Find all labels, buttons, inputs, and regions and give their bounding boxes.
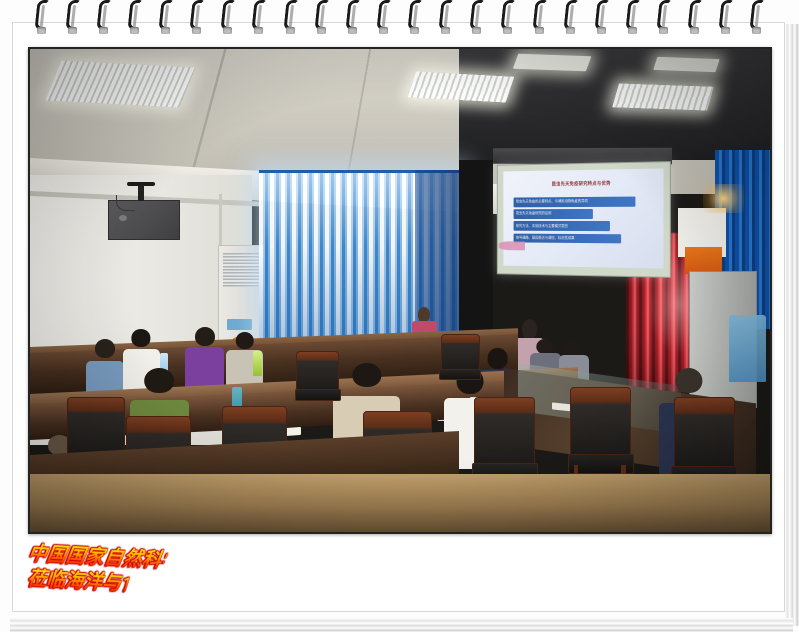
spiral-ring-icon <box>35 0 49 34</box>
spiral-ring-icon <box>252 0 266 34</box>
projection-screen: 昆虫先天免疫研究特点与优势 昆虫先天免疫的主要特点、与哺乳动物免疫的异同 昆虫先… <box>496 161 670 278</box>
ceiling-light-3 <box>612 83 714 110</box>
spiral-ring-icon <box>315 0 329 34</box>
ceiling-light-1 <box>46 61 196 108</box>
spiral-ring-icon <box>346 0 360 34</box>
slide-title: 昆虫先天免疫研究特点与优势 <box>518 175 646 191</box>
slide-bullet: 昆虫先天免疫的主要特点、与哺乳动物免疫的异同 <box>513 196 634 206</box>
spiral-ring-icon <box>626 0 640 34</box>
slide-content: 昆虫先天免疫研究特点与优势 昆虫先天免疫的主要特点、与哺乳动物免疫的异同 昆虫先… <box>503 167 663 268</box>
chair <box>296 351 337 414</box>
spiral-ring-icon <box>221 0 235 34</box>
slide-bullet-list: 昆虫先天免疫的主要特点、与哺乳动物免疫的异同 昆虫先天免疫研究的应用 研究方法、… <box>513 196 650 262</box>
spiral-ring-icon <box>128 0 142 34</box>
slide-bullet: 信号通路、基因表达与调控、标志性成果 <box>513 233 620 243</box>
spiral-ring-icon <box>595 0 609 34</box>
ceiling-light-4 <box>512 53 591 71</box>
scrapbook-page: 昆虫先天免疫研究特点与优势 昆虫先天免疫的主要特点、与哺乳动物免疫的异同 昆虫先… <box>0 0 799 632</box>
spiral-ring-icon <box>97 0 111 34</box>
spiral-ring-icon <box>719 0 733 34</box>
floor <box>30 474 770 532</box>
spiral-ring-icon <box>159 0 173 34</box>
slide-bullet: 研究方法、实验技术与主要模式昆虫 <box>513 221 609 231</box>
caption: 中国国家自然科学基金项目评审专家、美国密苏里大学余小强教授 莅临海洋与食品学院开… <box>28 546 772 595</box>
spiral-ring-icon <box>564 0 578 34</box>
spiral-ring-icon <box>284 0 298 34</box>
spiral-ring-icon <box>750 0 764 34</box>
page-edge-bottom <box>10 618 793 632</box>
wall-speaker-icon <box>108 200 180 241</box>
spiral-ring-icon <box>190 0 204 34</box>
spiral-ring-icon <box>688 0 702 34</box>
caption-line-2: 莅临海洋与食品学院开展《先天免疫信号通路》讲座及UMKC“3+2”合作办学宣讲 <box>25 568 132 598</box>
chair <box>441 334 478 392</box>
orange-box <box>685 247 722 274</box>
water-dispenser <box>729 315 766 383</box>
ceiling-light-2 <box>408 71 515 102</box>
spiral-ring-icon <box>66 0 80 34</box>
water-bottle <box>253 351 261 376</box>
lecture-hall-photo: 昆虫先天免疫研究特点与优势 昆虫先天免疫的主要特点、与哺乳动物免疫的异同 昆虫先… <box>30 49 770 532</box>
slide-bullet: 昆虫先天免疫研究的应用 <box>513 209 592 219</box>
photo-frame: 昆虫先天免疫研究特点与优势 昆虫先天免疫的主要特点、与哺乳动物免疫的异同 昆虫先… <box>28 47 772 534</box>
spiral-ring-icon <box>533 0 547 34</box>
spiral-ring-icon <box>470 0 484 34</box>
slide-pointer-icon <box>498 241 524 250</box>
spiral-ring-icon <box>657 0 671 34</box>
stage-light-glow <box>703 184 744 213</box>
page-edge-right <box>785 24 799 626</box>
ceiling-light-5 <box>654 57 720 72</box>
spiral-ring-icon <box>439 0 453 34</box>
spiral-ring-icon <box>377 0 391 34</box>
spiral-binding <box>0 0 799 40</box>
spiral-ring-icon <box>501 0 515 34</box>
spiral-ring-icon <box>408 0 422 34</box>
